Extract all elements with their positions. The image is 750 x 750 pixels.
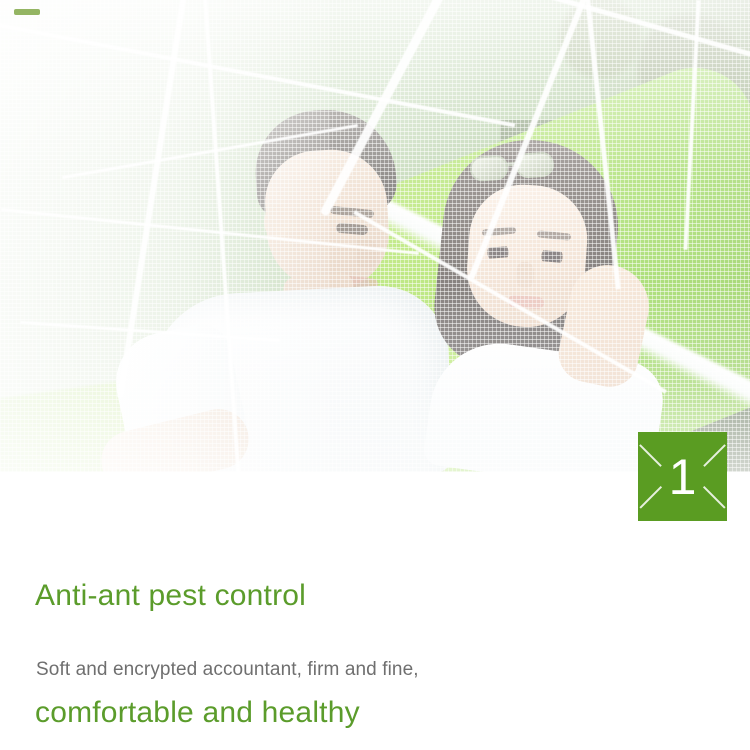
- product-feature-banner: Anti-ant pest control comfortable and he…: [0, 0, 750, 750]
- woman-lips: [508, 295, 545, 309]
- green-dash-mark-icon: [14, 9, 40, 15]
- photo-scene: [0, 0, 750, 472]
- step-number-badge: 1: [638, 432, 727, 521]
- woman-nose: [516, 262, 534, 288]
- man-nose: [356, 240, 378, 268]
- subtext-line-1: Soft and encrypted accountant, firm and …: [36, 655, 419, 685]
- subtext: Soft and encrypted accountant, firm and …: [36, 595, 419, 750]
- man-ear: [264, 205, 290, 239]
- woman-eye-right: [538, 250, 567, 263]
- sunglasses-lens-left: [469, 154, 509, 182]
- sunglasses-icon: [469, 149, 559, 185]
- woman-eye-left: [484, 246, 513, 259]
- subtext-line-2: no need to worry about mosquitoes: [36, 745, 419, 750]
- sunglasses-lens-right: [515, 151, 555, 179]
- badge-number: 1: [638, 432, 727, 521]
- hero-photo: [0, 0, 750, 472]
